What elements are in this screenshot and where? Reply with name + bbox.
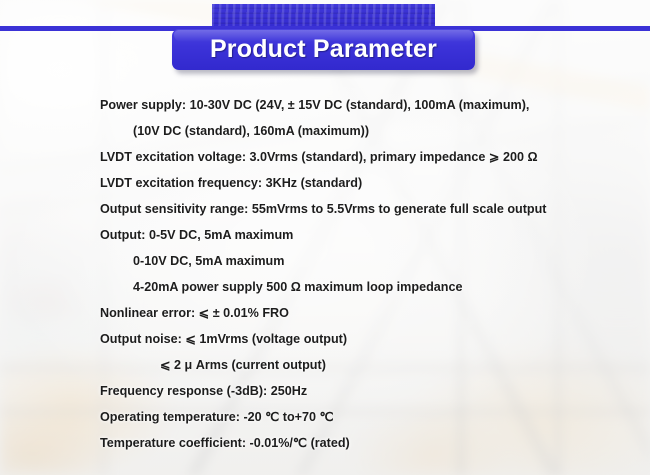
spec-line: Output: 0-5V DC, 5mA maximum: [0, 222, 650, 248]
spec-line: 0-10V DC, 5mA maximum: [0, 248, 650, 274]
spec-line: Output sensitivity range: 55mVrms to 5.5…: [0, 196, 650, 222]
spec-list: Power supply: 10-30V DC (24V, ± 15V DC (…: [0, 92, 650, 456]
spec-line: Output noise: ⩽ 1mVrms (voltage output): [0, 326, 650, 352]
spec-line: Operating temperature: -20 ℃ to+70 ℃: [0, 404, 650, 430]
title-banner: Product Parameter: [172, 29, 475, 70]
spec-line: LVDT excitation frequency: 3KHz (standar…: [0, 170, 650, 196]
spec-line: ⩽ 2 μ Arms (current output): [0, 352, 650, 378]
spec-line: (10V DC (standard), 160mA (maximum)): [0, 118, 650, 144]
spec-line: Temperature coefficient: -0.01%/℃ (rated…: [0, 430, 650, 456]
spec-line: Frequency response (-3dB): 250Hz: [0, 378, 650, 404]
spec-line: Power supply: 10-30V DC (24V, ± 15V DC (…: [0, 92, 650, 118]
spec-line: 4-20mA power supply 500 Ω maximum loop i…: [0, 274, 650, 300]
spec-line: LVDT excitation voltage: 3.0Vrms (standa…: [0, 144, 650, 170]
product-parameter-slide: Product Parameter Power supply: 10-30V D…: [0, 0, 650, 475]
spec-line: Nonlinear error: ⩽ ± 0.01% FRO: [0, 300, 650, 326]
page-title: Product Parameter: [210, 35, 437, 64]
